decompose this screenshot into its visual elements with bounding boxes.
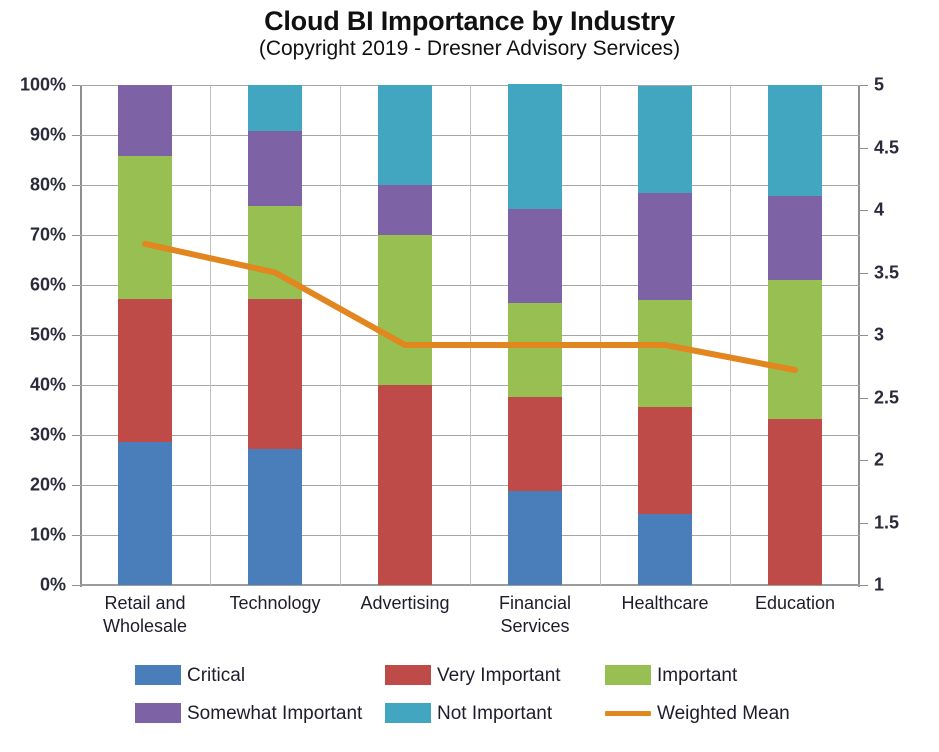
y-axis-left-tick-label: 20% (0, 475, 66, 496)
y-axis-left-tick-label: 80% (0, 175, 66, 196)
x-axis-tick-label-line: Advertising (340, 592, 470, 615)
y-axis-right-tick-mark (860, 273, 868, 274)
legend-item[interactable]: Not Important (385, 700, 552, 726)
x-axis-tick-label-line: Healthcare (600, 592, 730, 615)
legend-item[interactable]: Important (605, 662, 737, 688)
x-axis-tick-label: Technology (210, 592, 340, 615)
x-axis-tick-label-line: Services (470, 615, 600, 638)
plot-area (80, 85, 860, 585)
y-axis-left-tick-mark (72, 435, 80, 436)
y-axis-left-tick-mark (72, 485, 80, 486)
y-axis-left-tick-mark (72, 535, 80, 536)
y-axis-left-tick-label: 100% (0, 75, 66, 96)
y-axis-left-tick-mark (72, 185, 80, 186)
y-axis-right-tick-label: 5 (874, 75, 934, 96)
x-axis-tick-label: Healthcare (600, 592, 730, 615)
y-axis-left-tick-label: 10% (0, 525, 66, 546)
legend-line-icon (605, 703, 651, 723)
legend-item[interactable]: Very Important (385, 662, 561, 688)
y-axis-left-tick-label: 40% (0, 375, 66, 396)
y-axis-right-tick-label: 1 (874, 575, 934, 596)
y-axis-right-tick-mark (860, 148, 868, 149)
y-axis-left-tick-mark (72, 235, 80, 236)
y-axis-right-tick-label: 1.5 (874, 512, 934, 533)
legend-swatch-icon (605, 665, 651, 685)
chart-subtitle: (Copyright 2019 - Dresner Advisory Servi… (0, 37, 939, 61)
y-axis-right-tick-mark (860, 85, 868, 86)
legend-item-label: Weighted Mean (657, 704, 790, 723)
y-axis-right-tick-mark (860, 460, 868, 461)
legend-swatch-icon (385, 665, 431, 685)
y-axis-left-tick-label: 60% (0, 275, 66, 296)
y-axis-right-tick-label: 4.5 (874, 137, 934, 158)
legend-swatch-icon (135, 665, 181, 685)
y-axis-right-tick-label: 4 (874, 200, 934, 221)
legend-item[interactable]: Somewhat Important (135, 700, 362, 726)
y-axis-left-tick-mark (72, 585, 80, 586)
x-axis-tick-label: Retail andWholesale (80, 592, 210, 638)
x-axis-tick-label-line: Wholesale (80, 615, 210, 638)
y-axis-left-tick-mark (72, 85, 80, 86)
x-axis-tick-label: Education (730, 592, 860, 615)
y-axis-right-tick-mark (860, 585, 868, 586)
y-axis-right-tick-label: 3 (874, 325, 934, 346)
x-axis-tick-label-line: Financial (470, 592, 600, 615)
weighted-mean-line-layer (80, 85, 860, 585)
x-axis-tick-label: Advertising (340, 592, 470, 615)
legend-item-label: Critical (187, 666, 245, 685)
legend-item-label: Very Important (437, 666, 561, 685)
y-axis-left-tick-label: 90% (0, 125, 66, 146)
legend-item-label: Somewhat Important (187, 704, 362, 723)
x-axis-tick-label-line: Technology (210, 592, 340, 615)
y-axis-left-tick-label: 0% (0, 575, 66, 596)
legend-item-label: Important (657, 666, 737, 685)
chart-legend: CriticalVery ImportantImportantSomewhat … (0, 662, 939, 740)
chart-container: Cloud BI Importance by Industry (Copyrig… (0, 0, 939, 752)
x-axis-category-labels: Retail andWholesaleTechnologyAdvertising… (80, 592, 860, 650)
y-axis-right-tick-label: 2 (874, 450, 934, 471)
y-axis-right-tick-mark (860, 335, 868, 336)
x-axis-tick-label-line: Retail and (80, 592, 210, 615)
legend-item-label: Not Important (437, 704, 552, 723)
y-axis-left-tick-label: 30% (0, 425, 66, 446)
legend-swatch-icon (135, 703, 181, 723)
y-axis-left-tick-label: 50% (0, 325, 66, 346)
legend-item[interactable]: Critical (135, 662, 245, 688)
legend-swatch-icon (385, 703, 431, 723)
legend-item[interactable]: Weighted Mean (605, 700, 790, 726)
y-axis-left-tick-label: 70% (0, 225, 66, 246)
y-axis-right-tick-mark (860, 398, 868, 399)
x-axis-tick-label: FinancialServices (470, 592, 600, 638)
y-axis-right-tick-label: 3.5 (874, 262, 934, 283)
title-block: Cloud BI Importance by Industry (Copyrig… (0, 6, 939, 61)
y-axis-right-tick-mark (860, 523, 868, 524)
y-axis-left-tick-mark (72, 385, 80, 386)
y-axis-right-tick-mark (860, 210, 868, 211)
weighted-mean-line (145, 244, 795, 370)
y-axis-left-tick-mark (72, 285, 80, 286)
x-axis-tick-label-line: Education (730, 592, 860, 615)
y-axis-left-tick-mark (72, 135, 80, 136)
y-axis-right-tick-label: 2.5 (874, 387, 934, 408)
y-axis-left-tick-mark (72, 335, 80, 336)
page-title: Cloud BI Importance by Industry (0, 6, 939, 36)
